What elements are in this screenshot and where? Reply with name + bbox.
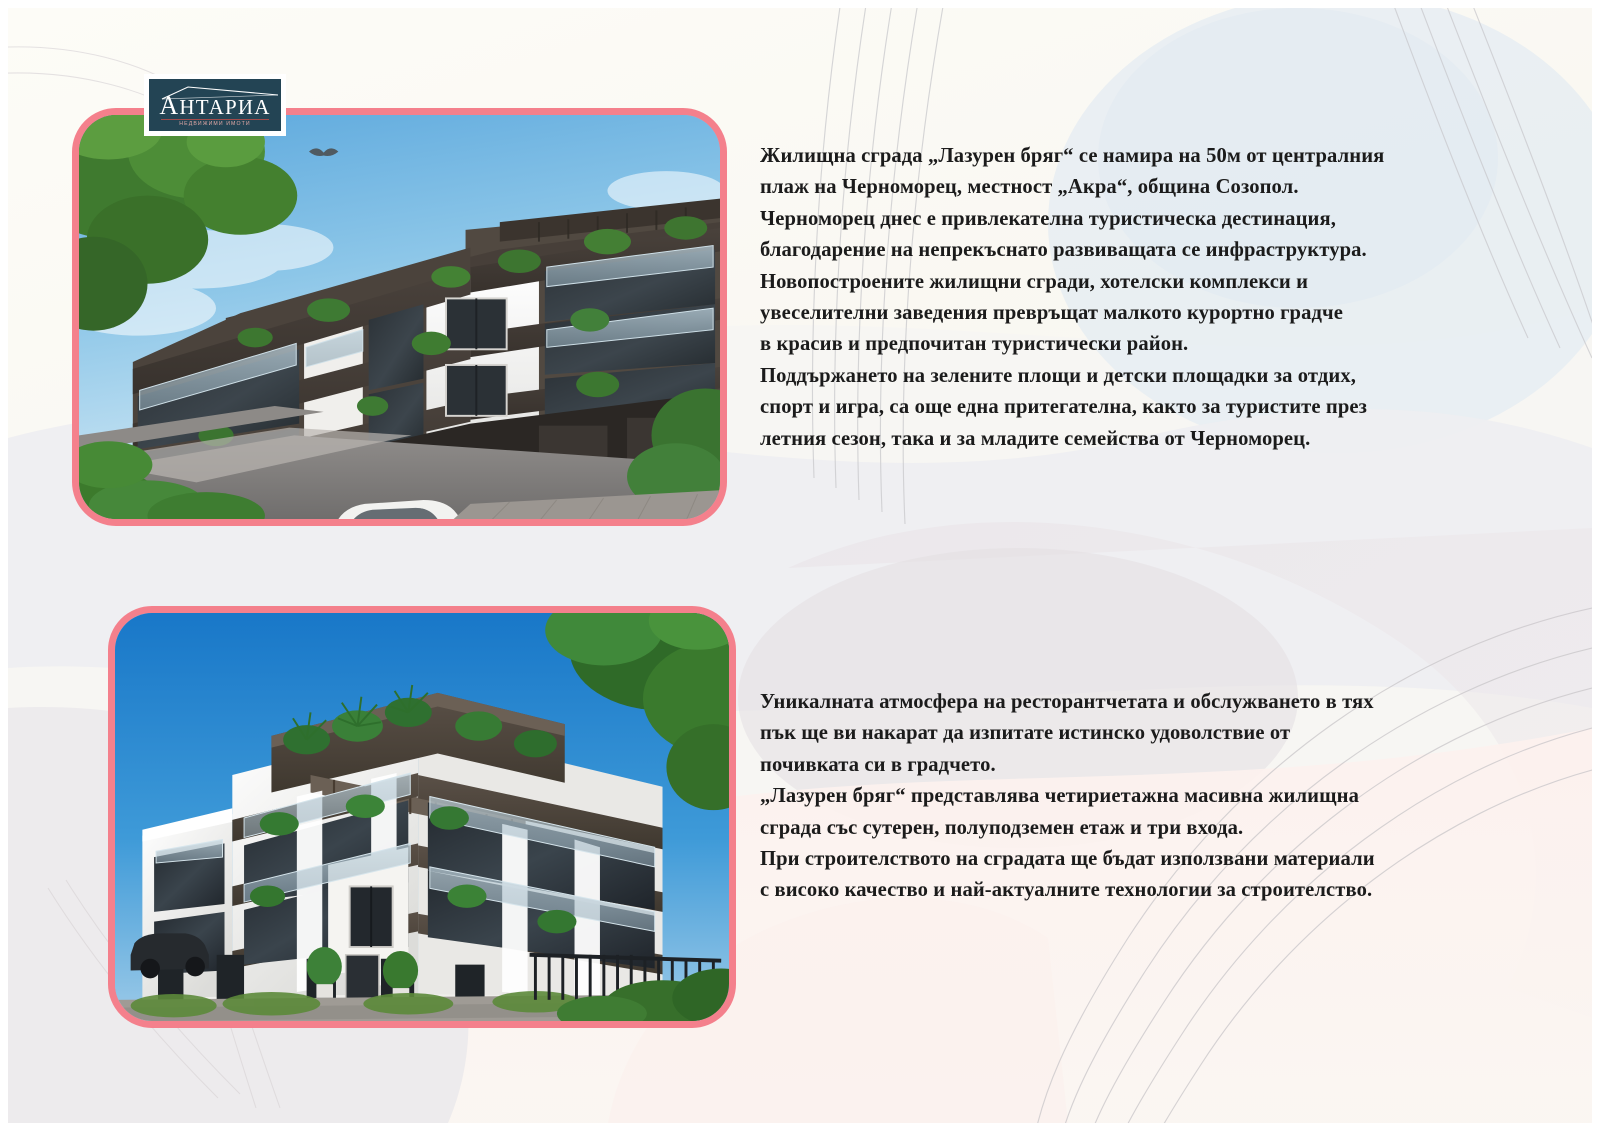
building-render-bottom [115,613,729,1021]
page-canvas: АНТАРИА НЕДВИЖИМИ ИМОТИ Жилищна сграда „… [8,8,1592,1123]
building-render-bottom-svg [115,613,729,1021]
building-render-top [79,115,720,519]
description-paragraph-bottom: Уникалната атмосфера на ресторантчетата … [760,687,1550,907]
logo-roof-icon [158,85,282,101]
logo-tagline: НЕДВИЖИМИ ИМОТИ [179,121,250,127]
logo-panel: АНТАРИА НЕДВИЖИМИ ИМОТИ [149,79,281,131]
building-photo-bottom [108,606,736,1028]
brochure-page: АНТАРИА НЕДВИЖИМИ ИМОТИ Жилищна сграда „… [0,0,1600,1131]
company-logo: АНТАРИА НЕДВИЖИМИ ИМОТИ [144,74,286,136]
building-photo-top [72,108,727,526]
building-render-top-svg [79,115,720,519]
description-paragraph-top: Жилищна сграда „Лазурен бряг“ се намира … [760,141,1550,455]
